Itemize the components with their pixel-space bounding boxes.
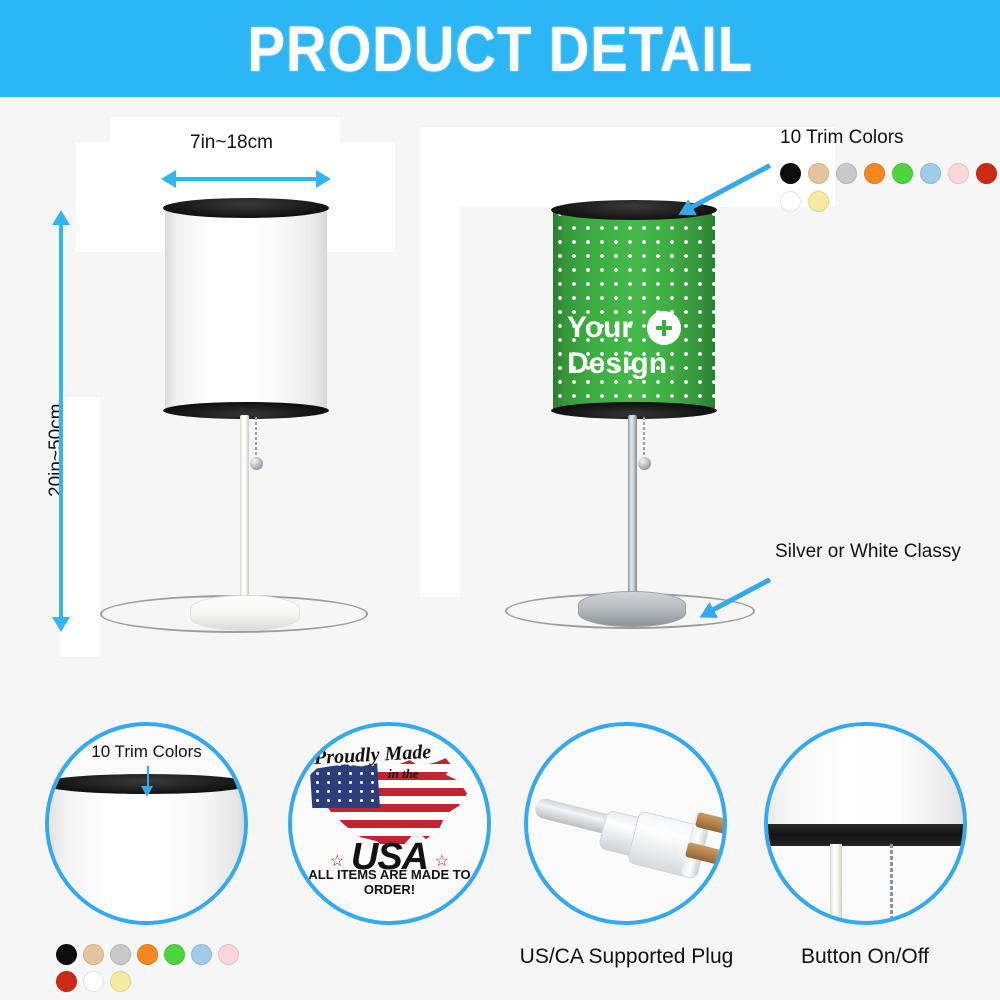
mini-arrow-shaft [147, 766, 149, 788]
swatch-tan[interactable] [83, 944, 104, 965]
switch-lamp-pole [830, 844, 842, 925]
dimension-height-label: 20in~50cm [46, 404, 68, 497]
feature-caption-plug: US/CA Supported Plug [504, 945, 749, 969]
shade-trim-top [163, 198, 329, 218]
feature-circle-plug[interactable] [524, 722, 727, 925]
swatch-light-blue[interactable] [191, 944, 212, 965]
swatch-pink[interactable] [948, 163, 969, 184]
shade-design-line1: Your [567, 313, 633, 343]
switch-shade-trim [764, 824, 967, 846]
product-stage: 7in~18cm 20in~50cm Your Design [0, 97, 1000, 707]
arrow-head-down [52, 617, 70, 632]
pull-chain-ball [250, 457, 263, 470]
bottom-trim-swatches[interactable] [56, 944, 256, 992]
switch-pull-chain[interactable] [890, 844, 893, 922]
lamp-base-silver [578, 591, 686, 627]
mini-trim-colors-label: 10 Trim Colors [49, 742, 244, 762]
pull-chain-green [643, 417, 645, 461]
trim-colors-title: 10 Trim Colors [780, 127, 904, 149]
base-finish-label: Silver or White Classy [775, 541, 961, 563]
swatch-green[interactable] [892, 163, 913, 184]
shade-surface-green: Your Design [553, 207, 715, 413]
swatch-gray[interactable] [110, 944, 131, 965]
swatch-white[interactable] [83, 971, 104, 992]
bg-patch [455, 127, 835, 207]
switch-shade-preview [764, 722, 967, 834]
plus-icon [647, 311, 681, 345]
swatch-white[interactable] [780, 191, 801, 212]
shade-design-line2: Design [567, 349, 703, 379]
swatch-orange[interactable] [864, 163, 885, 184]
feature-caption-switch: Button On/Off [760, 945, 970, 969]
swatch-red[interactable] [976, 163, 997, 184]
lamp-shade-white [165, 205, 327, 413]
lamp-pole-white [240, 415, 249, 607]
arrow-head-up [52, 210, 70, 225]
swatch-pink[interactable] [218, 944, 239, 965]
mini-shade-preview [45, 782, 248, 925]
feature-circle-trim-colors[interactable]: 10 Trim Colors [45, 722, 248, 925]
swatch-black[interactable] [780, 163, 801, 184]
arrow-head-left [161, 170, 176, 188]
bg-patch [420, 127, 460, 597]
swatch-tan[interactable] [808, 163, 829, 184]
switch-pull-chain-ball[interactable] [882, 918, 901, 925]
lamp-base-white [190, 595, 300, 631]
swatch-gray[interactable] [836, 163, 857, 184]
mini-arrow-head [141, 786, 153, 797]
usa-badge: Proudly Made in the ☆ USA ☆ ALL ITEMS AR… [292, 726, 487, 921]
lamp-pole-silver [628, 415, 637, 605]
dimension-height-line [59, 225, 63, 617]
dimension-width-label: 7in~18cm [190, 132, 273, 154]
swatch-light-blue[interactable] [920, 163, 941, 184]
swatch-green[interactable] [164, 944, 185, 965]
swatch-orange[interactable] [137, 944, 158, 965]
feature-circle-made-in-usa[interactable]: Proudly Made in the ☆ USA ☆ ALL ITEMS AR… [288, 722, 491, 925]
arrow-head-right [316, 170, 331, 188]
trim-color-swatches[interactable] [780, 163, 1000, 212]
swatch-yellow[interactable] [110, 971, 131, 992]
swatch-black[interactable] [56, 944, 77, 965]
shade-surface [165, 205, 327, 413]
usa-badge-subtext: ALL ITEMS ARE MADE TO ORDER! [292, 867, 487, 897]
dimension-width-line [176, 177, 316, 181]
feature-circle-switch[interactable] [764, 722, 967, 925]
pull-chain-ball-green [638, 457, 651, 470]
swatch-yellow[interactable] [808, 191, 829, 212]
usa-badge-line2: in the [388, 766, 419, 782]
swatch-red[interactable] [56, 971, 77, 992]
header-banner: PRODUCT DETAIL [0, 0, 1000, 97]
lamp-shade-green: Your Design [553, 207, 715, 413]
page-title: PRODUCT DETAIL [247, 12, 753, 86]
pull-chain [255, 417, 257, 461]
